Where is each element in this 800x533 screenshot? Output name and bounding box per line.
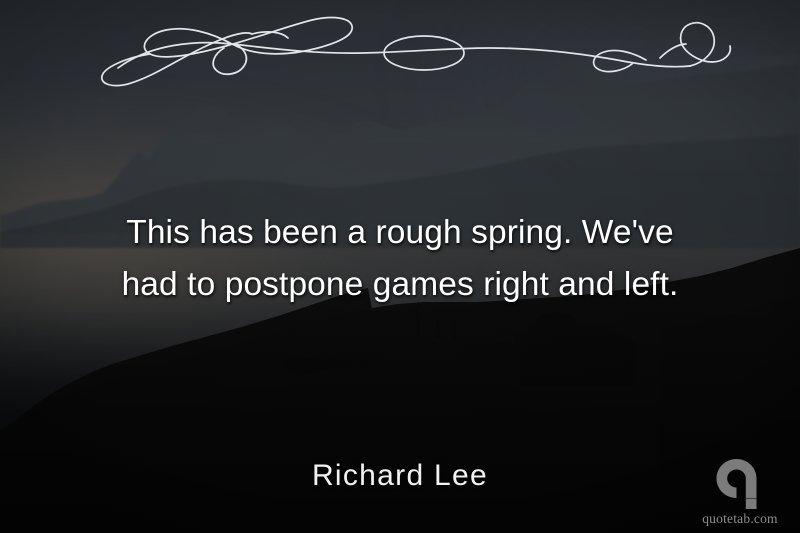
quote-text: This has been a rough spring. We've had … xyxy=(50,207,750,311)
swirl-ornament-icon xyxy=(0,6,800,90)
quote-card: This has been a rough spring. We've had … xyxy=(0,0,800,533)
quotetab-q-logo-icon xyxy=(714,457,766,513)
author-name: Richard Lee xyxy=(50,459,750,493)
watermark[interactable]: quotetab.com xyxy=(692,457,788,526)
watermark-text: quotetab.com xyxy=(702,512,778,526)
card-content: This has been a rough spring. We've had … xyxy=(0,0,800,533)
flourish-divider xyxy=(0,6,800,90)
